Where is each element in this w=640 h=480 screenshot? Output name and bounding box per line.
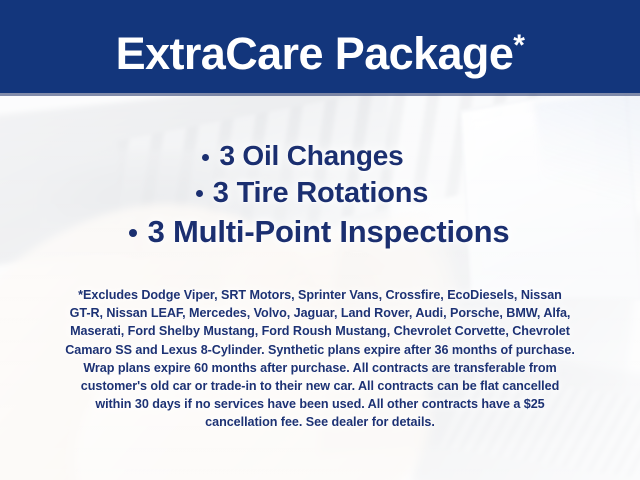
- benefits-list: 3 Oil Changes 3 Tire Rotations 3 Multi-P…: [0, 138, 640, 252]
- header-banner-underline: [0, 93, 640, 96]
- disclaimer-text: *Excludes Dodge Viper, SRT Motors, Sprin…: [26, 286, 614, 432]
- disclaimer-line: within 30 days if no services have been …: [26, 395, 614, 413]
- benefit-item-label: 3 Multi-Point Inspections: [148, 214, 510, 249]
- benefit-item: 3 Tire Rotations: [0, 174, 640, 212]
- page-title: ExtraCare Package*: [0, 20, 640, 80]
- disclaimer-line: *Excludes Dodge Viper, SRT Motors, Sprin…: [26, 286, 614, 304]
- bullet-dot-icon: [196, 190, 203, 197]
- disclaimer-line: GT-R, Nissan LEAF, Mercedes, Volvo, Jagu…: [26, 304, 614, 322]
- benefit-item: 3 Multi-Point Inspections: [0, 212, 640, 252]
- page-title-text: ExtraCare Package: [116, 28, 514, 79]
- disclaimer-line: Wrap plans expire 60 months after purcha…: [26, 359, 614, 377]
- bullet-dot-icon: [129, 229, 137, 237]
- benefit-item: 3 Oil Changes: [0, 138, 640, 174]
- disclaimer-line: Camaro SS and Lexus 8-Cylinder. Syntheti…: [26, 341, 614, 359]
- disclaimer-line: Maserati, Ford Shelby Mustang, Ford Rous…: [26, 322, 614, 340]
- extracare-package-ad: ExtraCare Package* 3 Oil Changes 3 Tire …: [0, 0, 640, 480]
- disclaimer-line: cancellation fee. See dealer for details…: [26, 413, 614, 431]
- page-title-asterisk: *: [513, 29, 524, 62]
- benefit-item-label: 3 Oil Changes: [219, 140, 403, 171]
- disclaimer-line: customer's old car or trade-in to their …: [26, 377, 614, 395]
- bullet-dot-icon: [202, 154, 209, 161]
- benefit-item-label: 3 Tire Rotations: [213, 177, 428, 209]
